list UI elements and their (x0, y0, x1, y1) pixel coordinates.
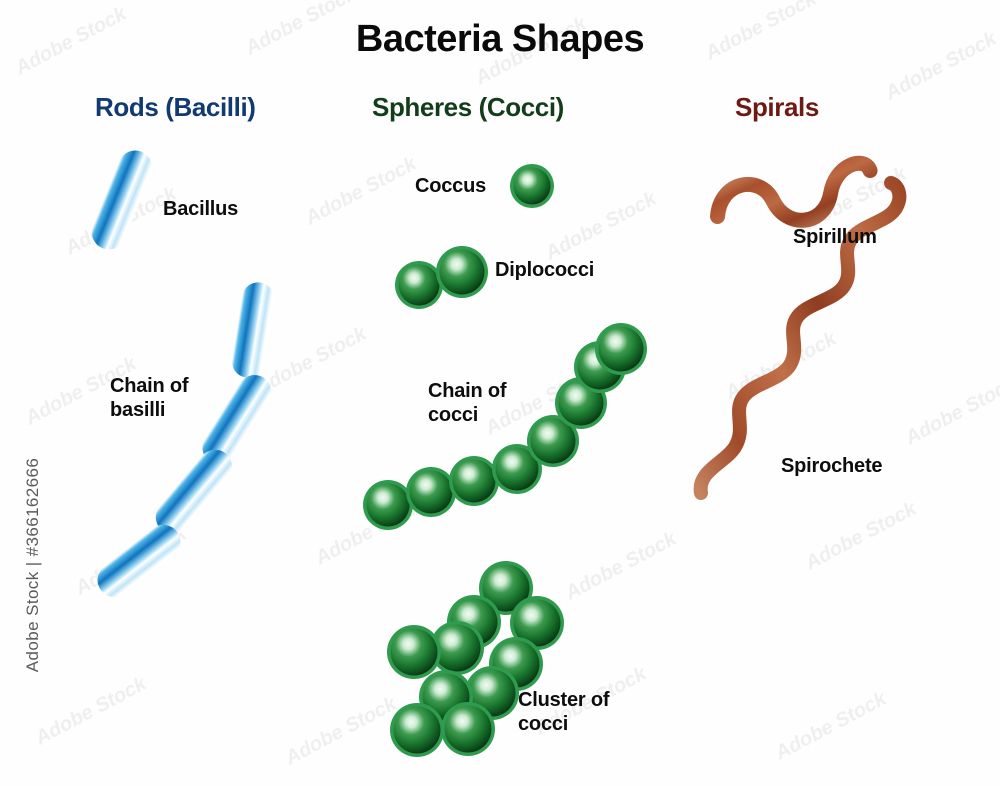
column-heading-rods: Rods (Bacilli) (95, 92, 256, 123)
diplococci-cells (395, 246, 488, 309)
page-title: Bacteria Shapes (0, 18, 1000, 61)
label-chain-of-cocci: Chain of cocci (428, 379, 506, 428)
label-cluster-of-cocci: Cluster of cocci (518, 688, 609, 737)
label-coccus: Coccus (415, 174, 486, 198)
column-heading-spirals: Spirals (735, 92, 819, 123)
chain-of-basilli-cells (91, 280, 278, 604)
coccus-cell (510, 164, 554, 208)
label-diplococci: Diplococci (495, 258, 594, 282)
bacillus-cell (87, 145, 157, 254)
spirillum-cell (713, 162, 875, 231)
label-spirochete: Spirochete (781, 454, 882, 478)
label-spirillum: Spirillum (793, 225, 877, 249)
label-bacillus: Bacillus (163, 197, 238, 221)
label-chain-of-basilli: Chain of basilli (110, 374, 188, 423)
diagram-canvas: Adobe Stock Adobe Stock Adobe Stock Adob… (0, 0, 1000, 786)
column-heading-spheres: Spheres (Cocci) (372, 92, 564, 123)
